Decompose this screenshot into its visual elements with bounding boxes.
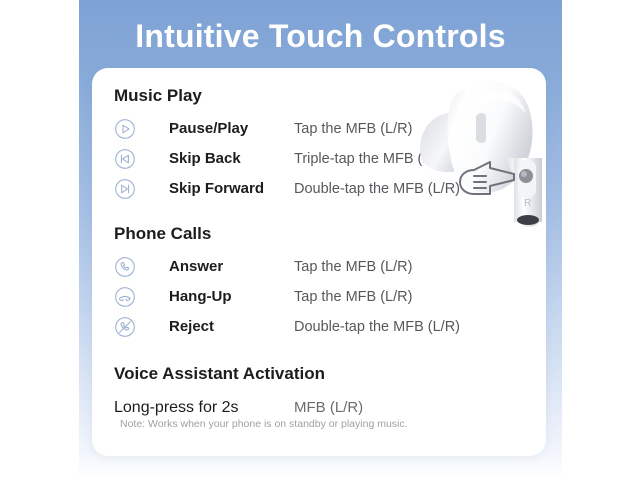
- infographic-stage: Intuitive Touch Controls Music Play Paus…: [0, 0, 640, 480]
- section-heading-voice-assistant: Voice Assistant Activation: [114, 364, 325, 384]
- page-title: Intuitive Touch Controls: [79, 18, 562, 54]
- skip-back-circle-icon: [114, 148, 136, 170]
- control-label: Pause/Play: [169, 118, 248, 140]
- control-description: Tap the MFB (L/R): [294, 118, 412, 140]
- voice-assistant-target: MFB (L/R): [294, 396, 363, 420]
- skip-forward-circle-icon: [114, 178, 136, 200]
- control-description: Tap the MFB (L/R): [294, 286, 412, 308]
- control-label: Skip Forward: [169, 178, 264, 200]
- control-row-hang-up: Hang-Up Tap the MFB (L/R): [114, 284, 534, 310]
- earbud-photo: R: [418, 54, 568, 229]
- control-description: Tap the MFB (L/R): [294, 256, 412, 278]
- footnote: Note: Works when your phone is on standb…: [120, 418, 408, 430]
- control-label: Skip Back: [169, 148, 241, 170]
- control-label: Reject: [169, 316, 214, 338]
- phone-circle-icon: [114, 256, 136, 278]
- voice-assistant-action: Long-press for 2s: [114, 396, 239, 420]
- phone-hangup-circle-icon: [114, 286, 136, 308]
- svg-text:R: R: [524, 198, 531, 209]
- control-description: Double-tap the MFB (L/R): [294, 316, 460, 338]
- control-row-answer: Answer Tap the MFB (L/R): [114, 254, 534, 280]
- section-heading-music-play: Music Play: [114, 86, 202, 106]
- control-label: Answer: [169, 256, 223, 278]
- control-row-reject: Reject Double-tap the MFB (L/R): [114, 314, 534, 340]
- play-circle-icon: [114, 118, 136, 140]
- section-heading-phone-calls: Phone Calls: [114, 224, 211, 244]
- phone-reject-circle-icon: [114, 316, 136, 338]
- control-label: Hang-Up: [169, 286, 232, 308]
